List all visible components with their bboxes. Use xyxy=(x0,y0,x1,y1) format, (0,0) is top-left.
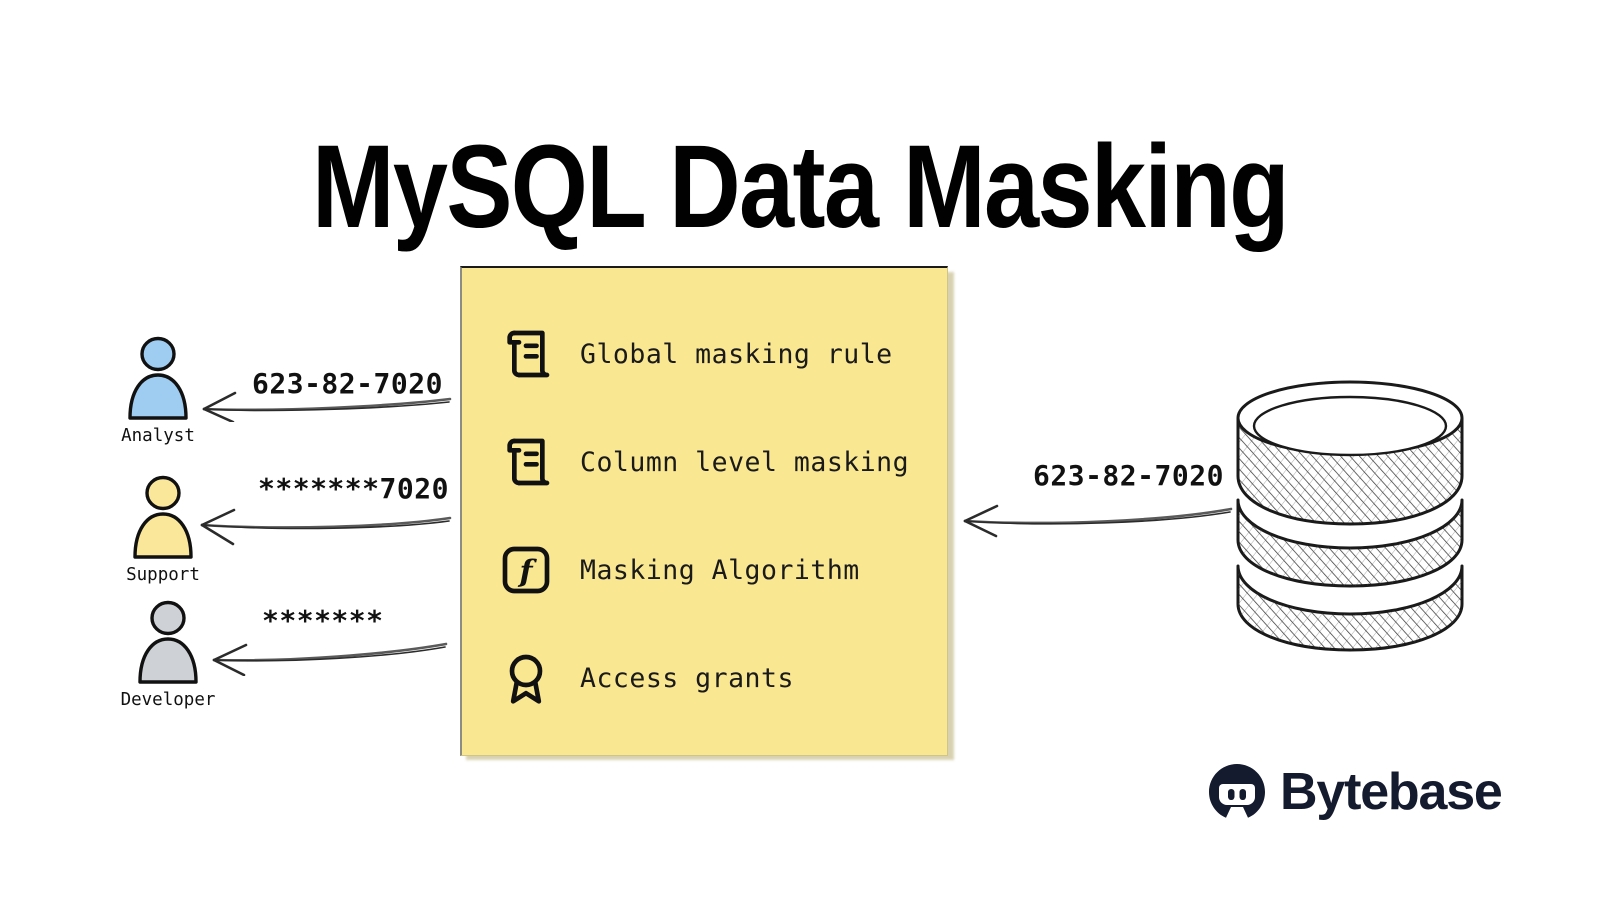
support-arrow xyxy=(192,502,454,548)
diagram-canvas: MySQL Data Masking Global masking rule xyxy=(0,0,1600,900)
feature-item-label: Access grants xyxy=(580,663,794,694)
bytebase-logo[interactable]: Bytebase xyxy=(1207,762,1502,822)
feature-item-label: Global masking rule xyxy=(580,339,893,370)
source-value-label: 623-82-7020 xyxy=(1033,459,1224,492)
page-title: MySQL Data Masking xyxy=(128,128,1472,246)
function-icon: f xyxy=(498,542,554,598)
consumer-label: Analyst xyxy=(83,426,233,446)
feature-item-masking-algorithm[interactable]: f Masking Algorithm xyxy=(498,516,948,624)
bytebase-logo-icon xyxy=(1207,762,1267,822)
award-icon xyxy=(498,650,554,706)
database-icon xyxy=(1232,378,1468,658)
feature-item-label: Column level masking xyxy=(580,447,909,478)
consumer-label: Support xyxy=(88,565,238,585)
consumer-label: Developer xyxy=(93,690,243,710)
person-icon xyxy=(119,336,197,424)
scroll-icon xyxy=(498,326,554,382)
masking-feature-list: Global masking rule Column level masking… xyxy=(460,266,948,756)
feature-item-label: Masking Algorithm xyxy=(580,555,860,586)
person-icon xyxy=(124,475,202,563)
person-icon xyxy=(129,600,207,688)
source-arrow xyxy=(955,495,1235,539)
feature-item-access-grants[interactable]: Access grants xyxy=(498,624,948,732)
scroll-icon xyxy=(498,434,554,490)
developer-arrow xyxy=(200,632,450,676)
feature-item-global-masking-rule[interactable]: Global masking rule xyxy=(498,300,948,408)
bytebase-wordmark: Bytebase xyxy=(1280,766,1502,818)
analyst-arrow xyxy=(192,382,454,422)
svg-text:f: f xyxy=(517,555,537,590)
feature-item-column-level-masking[interactable]: Column level masking xyxy=(498,408,948,516)
support-value-label: *******7020 xyxy=(258,472,449,505)
